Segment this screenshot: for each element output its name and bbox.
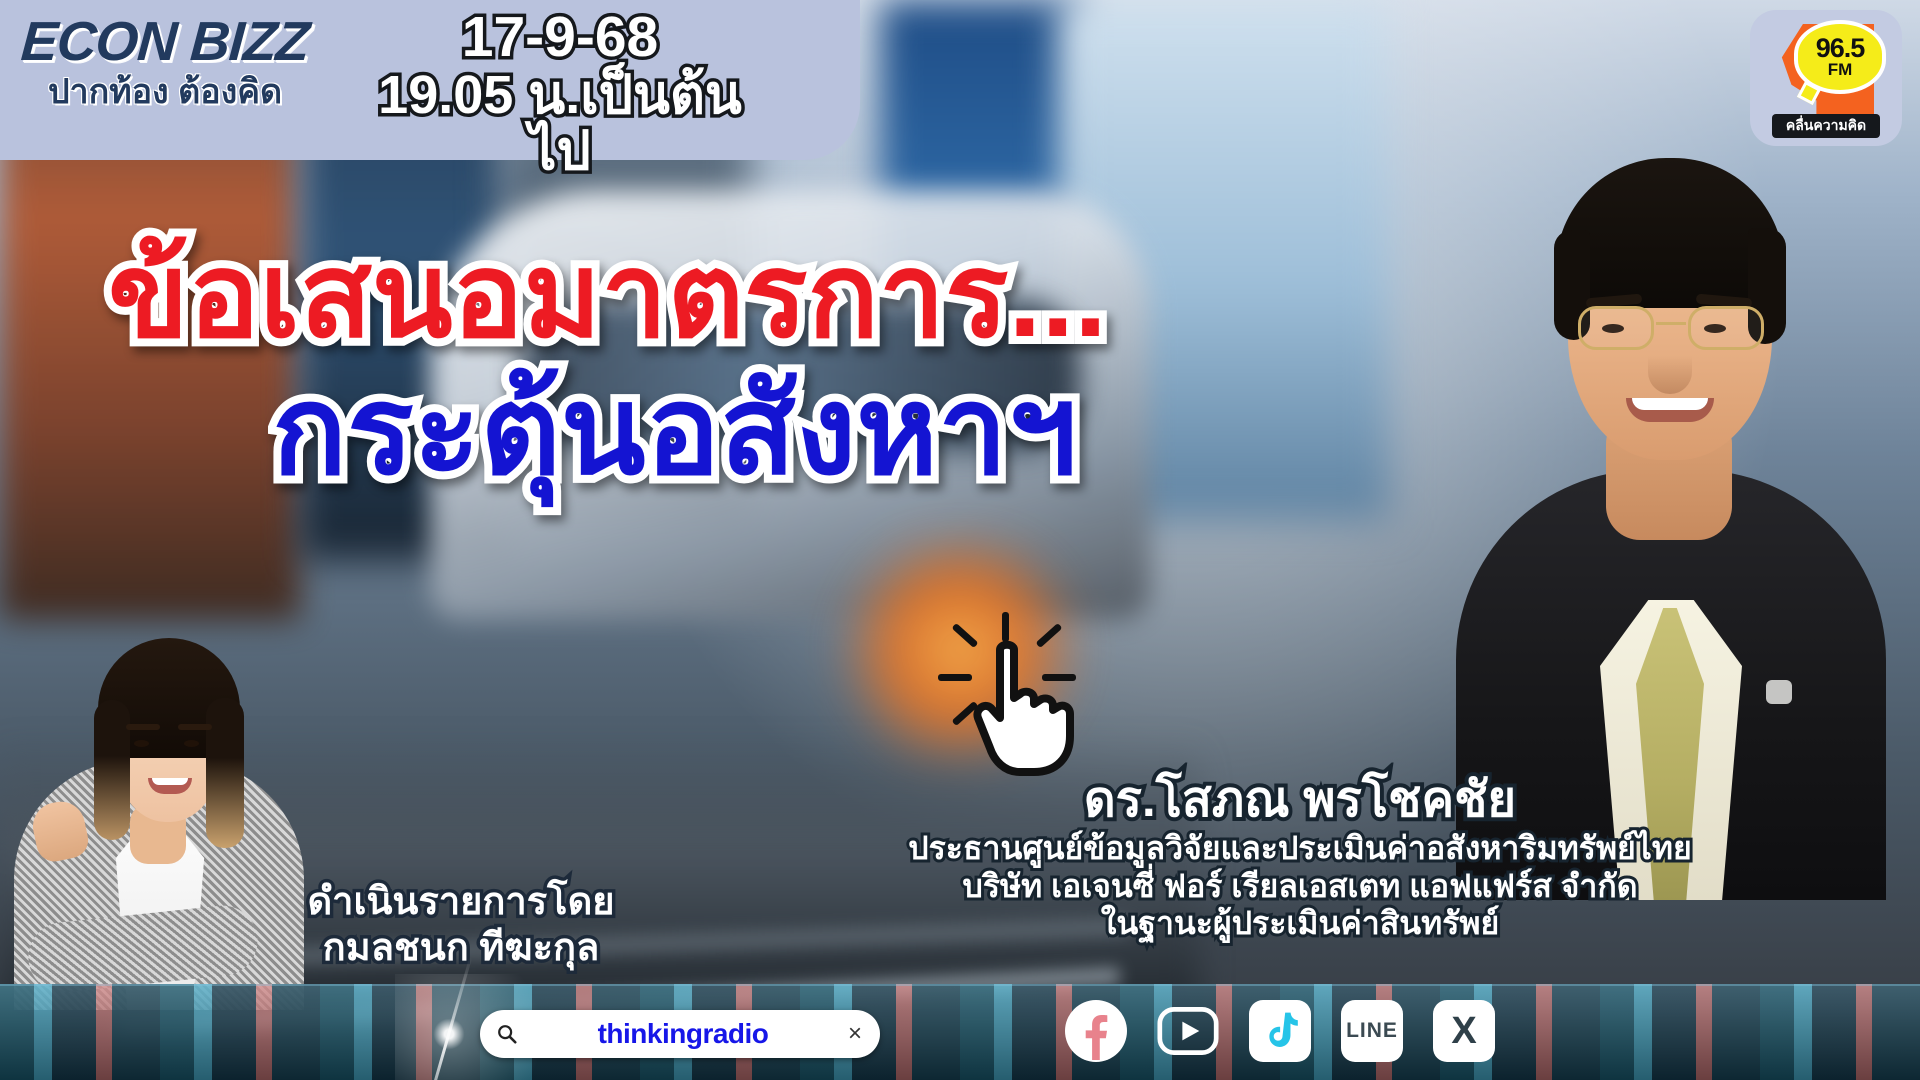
logo-tagline: คลื่นความคิด [1772,114,1880,138]
guest-credit: ดร.โสภณ พรโชคชัย ประธานศูนย์ข้อมูลวิจัยแ… [740,772,1860,943]
headline: ข้อเสนอมาตรการ... กระตุ้นอสังหาฯ [0,236,1180,495]
x-icon-label: X [1451,1010,1476,1053]
search-icon [496,1023,518,1045]
host-eye-left [134,740,149,747]
footer-bar: thinkingradio × L [0,984,1920,1080]
footer-gloss [0,986,1920,1080]
headline-line-1: ข้อเสนอมาตรการ... [0,236,1180,356]
logo-band: FM [1828,61,1853,78]
click-cursor-graphic [930,612,1100,752]
social-links: LINE X [1065,1000,1495,1062]
host-credit: ดำเนินรายการโดย กมลชนก ทีฆะกุล [246,880,676,971]
broadcast-schedule: 17-9-68 19.05 น.เป็นต้นไป [360,8,760,180]
guest-glasses [1576,306,1766,354]
host-hair-left [94,700,130,840]
facebook-icon[interactable] [1065,1000,1127,1062]
youtube-icon[interactable] [1157,1000,1219,1062]
line-icon[interactable]: LINE [1341,1000,1403,1062]
headline-line-2: กระตุ้นอสังหาฯ [0,368,1180,494]
pointing-hand-icon [964,640,1134,780]
broadcast-date: 17-9-68 [360,8,760,67]
host-hair-right [206,698,244,848]
broadcast-time: 19.05 น.เป็นต้นไป [360,67,760,179]
line-icon-label: LINE [1346,1019,1398,1043]
guest-name: ดร.โสภณ พรโชคชัย [740,772,1860,830]
guest-lapel-pin [1766,680,1792,704]
program-branding: ECON BIZZ ปากท้อง ต้องคิด [0,14,330,111]
host-eye-right [184,740,199,747]
guest-title-line-1: ประธานศูนย์ข้อมูลวิจัยและประเมินค่าอสังห… [740,830,1860,868]
tiktok-icon[interactable] [1249,1000,1311,1062]
logo-frequency: 96.5 [1816,36,1865,60]
host-eyebrow-right [178,724,212,730]
host-credit-label: ดำเนินรายการโดย [246,880,676,926]
program-subtitle: ปากท้อง ต้องคิด [0,75,330,111]
logo-speech-bubble: 96.5 FM [1794,20,1886,94]
station-logo: 96.5 FM คลื่นความคิด [1750,10,1902,146]
guest-title-line-3: ในฐานะผู้ประเมินค่าสินทรัพย์ [740,905,1860,943]
guest-smile [1626,398,1714,422]
program-title: ECON BIZZ [0,14,332,69]
header-bar: ECON BIZZ ปากท้อง ต้องคิด 17-9-68 19.05 … [0,0,860,160]
search-input[interactable]: thinkingradio [518,1018,848,1050]
clear-search-icon[interactable]: × [848,1020,862,1048]
promo-graphic: ข้อเสนอมาตรการ... กระตุ้นอสังหาฯ ดำเนินร… [0,0,1920,1080]
guest-title-line-2: บริษัท เอเจนซี่ ฟอร์ เรียลเอสเตท แอฟแฟร์… [740,868,1860,906]
spark-ray-top [1002,612,1009,642]
host-eyebrow-left [126,724,160,730]
x-icon[interactable]: X [1433,1000,1495,1062]
search-bar[interactable]: thinkingradio × [480,1010,880,1058]
host-credit-name: กมลชนก ทีฆะกุล [246,926,676,972]
